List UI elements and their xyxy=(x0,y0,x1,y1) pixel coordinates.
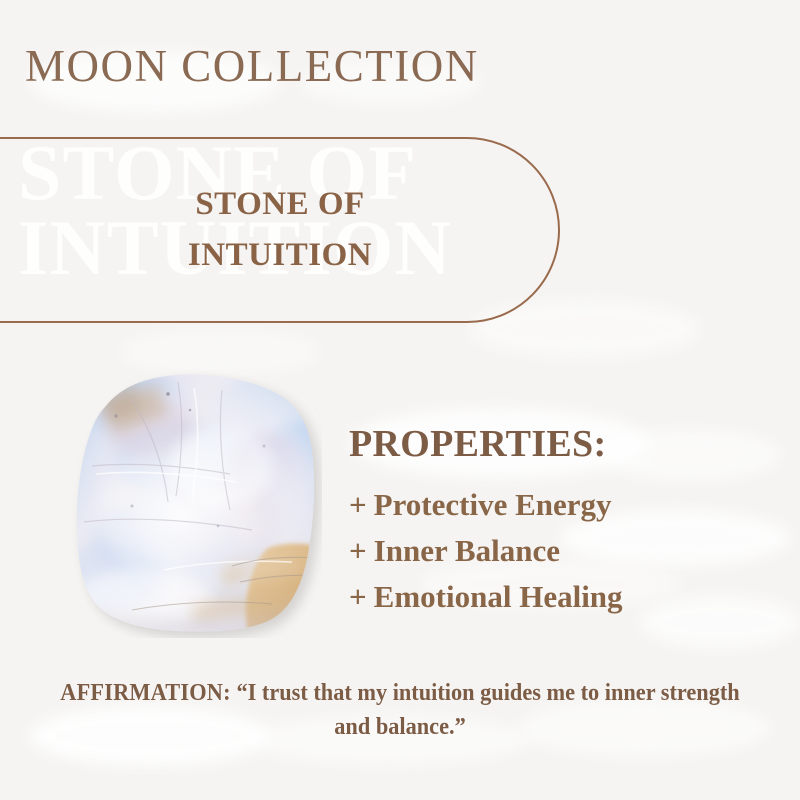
collection-title: MOON COLLECTION xyxy=(25,44,479,89)
product-info-card: MOON COLLECTION STONE OF INTUITION STONE… xyxy=(0,0,800,800)
moonstone-image xyxy=(72,370,322,638)
stone-name-badge xyxy=(0,137,560,323)
property-item: +Protective Energy xyxy=(349,482,769,528)
property-label: Emotional Healing xyxy=(374,579,623,614)
plus-icon: + xyxy=(349,533,367,568)
properties-heading: PROPERTIES: xyxy=(349,424,769,466)
property-label: Inner Balance xyxy=(374,533,560,568)
plus-icon: + xyxy=(349,487,367,522)
plus-icon: + xyxy=(349,579,367,614)
affirmation-label: AFFIRMATION: xyxy=(60,680,236,706)
properties-section: PROPERTIES: +Protective Energy +Inner Ba… xyxy=(349,424,769,619)
affirmation-quote: “I trust that my intuition guides me to … xyxy=(236,680,739,740)
property-label: Protective Energy xyxy=(374,487,612,522)
property-item: +Inner Balance xyxy=(349,528,769,574)
affirmation-block: AFFIRMATION: “I trust that my intuition … xyxy=(56,676,744,744)
property-item: +Emotional Healing xyxy=(349,574,769,620)
